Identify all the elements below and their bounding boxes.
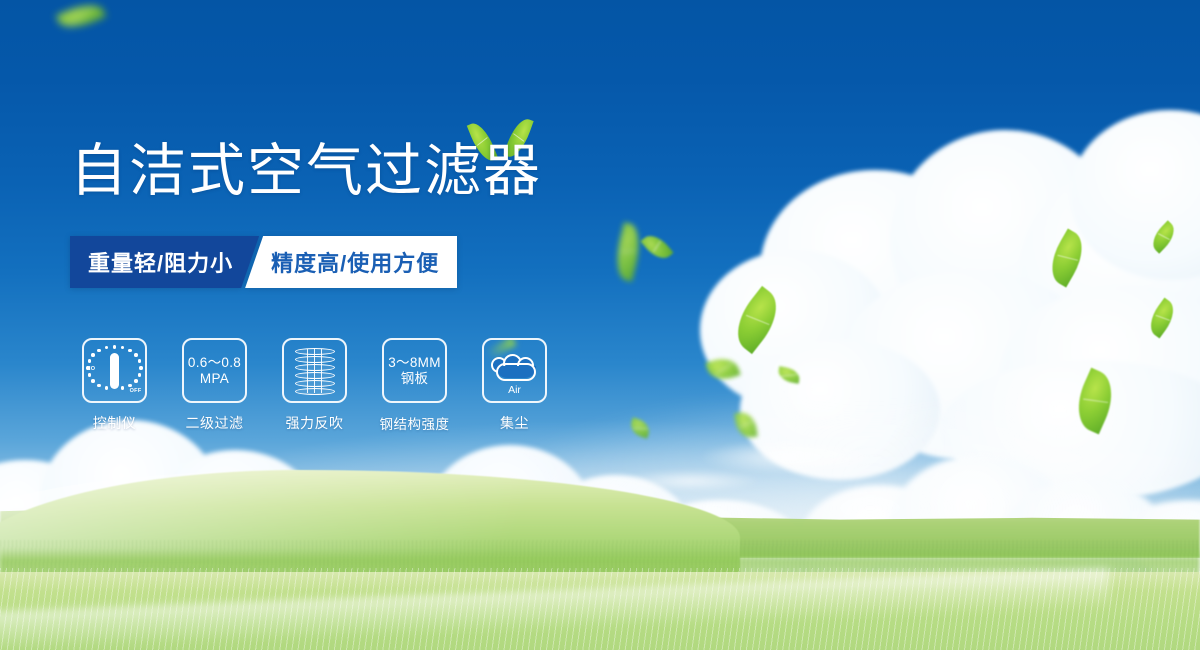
- feature-icon-box: 3～8MM 钢板: [382, 338, 447, 403]
- cloud-body: [496, 363, 536, 381]
- pressure-text-icon: 0.6～0.8 MPA: [188, 355, 241, 385]
- air-cloud-icon: Air: [490, 349, 540, 393]
- feature-item-secondary-filter[interactable]: 0.6～0.8 MPA 二级过滤: [182, 338, 247, 433]
- feature-icon-box: NO OFF: [82, 338, 147, 403]
- feature-label: 强力反吹: [286, 413, 344, 433]
- subtitle-bar: 重量轻/阻力小 精度高/使用方便: [70, 236, 457, 288]
- feature-label: 控制仪: [93, 413, 137, 433]
- steel-line-1: 3～8MM: [388, 355, 441, 370]
- air-label: Air: [490, 384, 540, 396]
- gauge-needle: [110, 353, 119, 389]
- feature-icon-box: [282, 338, 347, 403]
- feature-item-dust-collection[interactable]: Air 集尘: [482, 338, 547, 433]
- product-banner: 自洁式空气过滤器 重量轻/阻力小 精度高/使用方便: [0, 0, 1200, 650]
- pressure-line-2: MPA: [188, 371, 241, 386]
- feature-list: NO OFF 控制仪 0.6～0.8 MPA 二级过滤: [82, 338, 547, 433]
- pressure-line-1: 0.6～0.8: [188, 355, 241, 370]
- gauge-label-off: OFF: [130, 388, 142, 394]
- coil-icon: [295, 347, 335, 395]
- subtitle-right-segment: 精度高/使用方便: [245, 236, 457, 288]
- feature-label: 集尘: [500, 413, 529, 433]
- steel-text-icon: 3～8MM 钢板: [388, 355, 441, 385]
- subtitle-left-segment: 重量轻/阻力小: [70, 236, 259, 288]
- feature-label: 二级过滤: [186, 413, 244, 433]
- feature-label: 钢结构强度: [380, 413, 450, 433]
- gauge-label-no: NO: [87, 366, 96, 372]
- feature-icon-box: 0.6～0.8 MPA: [182, 338, 247, 403]
- feature-item-controller[interactable]: NO OFF 控制仪: [82, 338, 147, 433]
- steel-line-2: 钢板: [388, 371, 441, 386]
- gauge-icon: NO OFF: [88, 344, 142, 398]
- page-title: 自洁式空气过滤器: [70, 143, 542, 200]
- feature-item-steel-strength[interactable]: 3～8MM 钢板 钢结构强度: [382, 338, 447, 433]
- feature-icon-box: Air: [482, 338, 547, 403]
- feature-item-backblow[interactable]: 强力反吹: [282, 338, 347, 433]
- cloud-wisp-a: [700, 440, 880, 474]
